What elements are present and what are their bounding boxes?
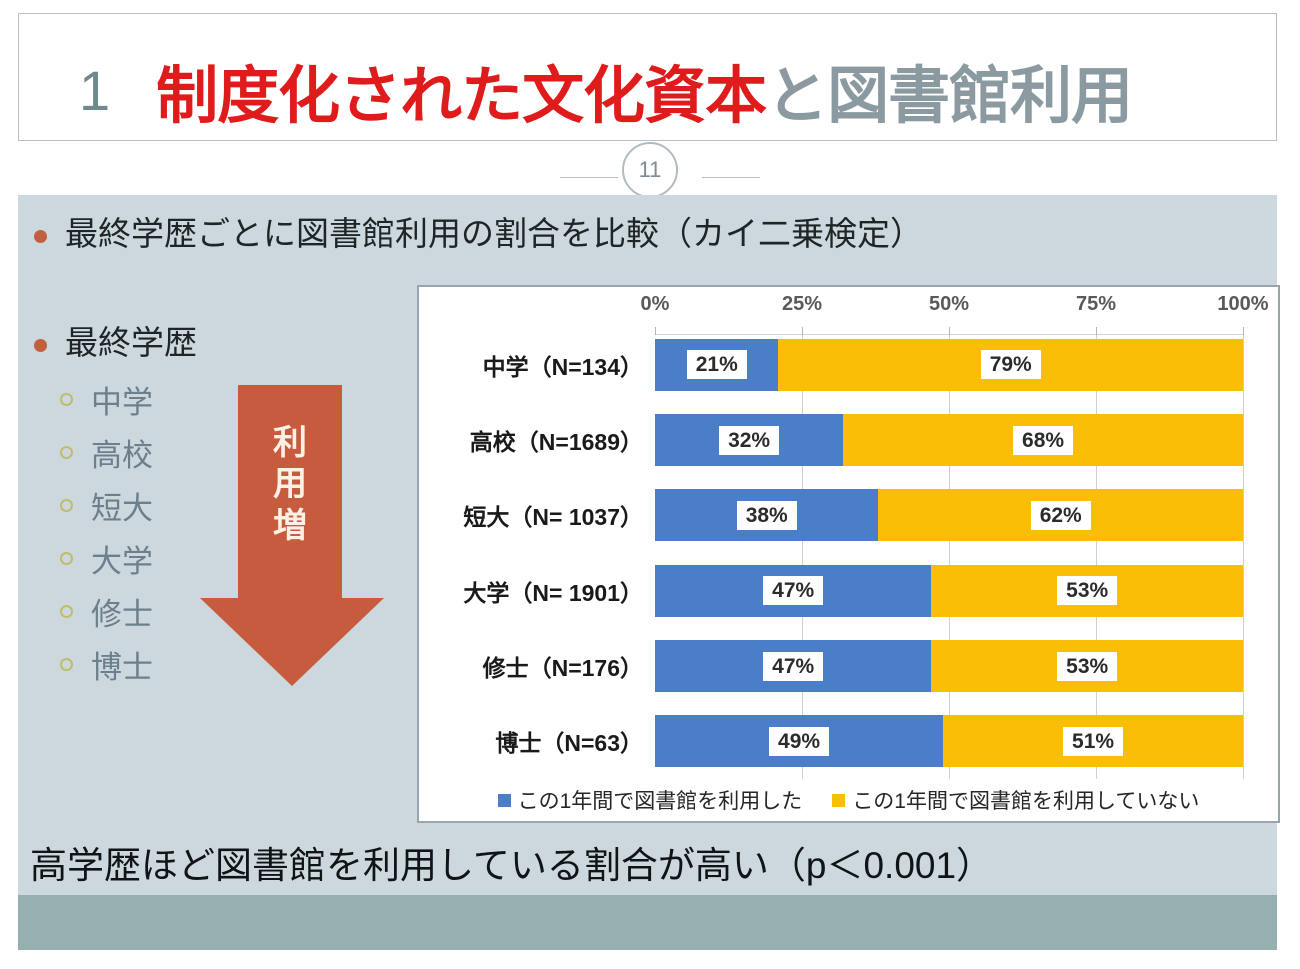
bar-segment: 38%: [655, 489, 878, 541]
plot-area: 21%79%32%68%38%62%47%53%47%53%49%51%: [655, 327, 1243, 779]
page-number-badge: 11: [622, 142, 678, 198]
header-band: 1 制度化された文化資本 と図書館利用: [18, 13, 1277, 141]
bar-row: 21%79%: [655, 339, 1243, 391]
bar-row: 49%51%: [655, 715, 1243, 767]
bar-value-label: 53%: [1057, 576, 1117, 605]
bar-value-label: 51%: [1063, 727, 1123, 756]
list-item-label: 博士: [91, 642, 153, 687]
x-axis-tick-label: 100%: [1217, 293, 1268, 316]
x-axis-tickmark: [655, 327, 656, 335]
arrow-label: 利 用 増: [238, 423, 342, 547]
list-item-label: 中学: [91, 377, 153, 422]
gridline: [1096, 327, 1097, 779]
bullet-compare: 最終学歴ごとに図書館利用の割合を比較（カイ二乗検定）: [34, 213, 923, 254]
bar-value-label: 49%: [769, 727, 829, 756]
circle-outline-icon: [60, 605, 73, 618]
conclusion-text: 高学歴ほど図書館を利用している割合が高い（p＜0.001）: [30, 835, 993, 889]
bullet-education-label: 最終学歴: [65, 322, 197, 363]
x-axis-tick-label: 75%: [1076, 293, 1116, 316]
bar-value-label: 21%: [687, 350, 747, 379]
bar-segment: 68%: [843, 414, 1243, 466]
category-axis-labels: 中学（N=134）高校（N=1689）短大（N= 1037）大学（N= 1901…: [419, 327, 655, 779]
category-label: 博士（N=63）: [495, 715, 643, 767]
bar-value-label: 38%: [737, 501, 797, 530]
category-label: 高校（N=1689）: [470, 414, 643, 466]
gridline: [1243, 327, 1244, 779]
chart-legend: この1年間で図書館を利用したこの1年間で図書館を利用していない: [419, 785, 1278, 815]
list-item-label: 大学: [91, 536, 153, 581]
x-axis-tick-label: 50%: [929, 293, 969, 316]
x-axis-tick-label: 25%: [782, 293, 822, 316]
list-item-label: 修士: [91, 589, 153, 634]
category-label: 短大（N= 1037）: [463, 489, 643, 541]
x-axis-tickmark: [1096, 327, 1097, 335]
down-arrow-icon: 利 用 増: [200, 385, 396, 685]
chart-inner: 0%25%50%75%100% 中学（N=134）高校（N=1689）短大（N=…: [419, 287, 1278, 821]
x-axis-tickmark: [949, 327, 950, 335]
legend-label: この1年間で図書館を利用した: [518, 785, 803, 815]
arrow-label-line-2: 用: [238, 464, 342, 505]
legend-label: この1年間で図書館を利用していない: [852, 785, 1199, 815]
category-label: 中学（N=134）: [483, 339, 643, 391]
title-highlight-text: 制度化された文化資本: [156, 45, 766, 135]
bar-segment: 32%: [655, 414, 843, 466]
legend-item: この1年間で図書館を利用した: [498, 785, 803, 815]
bar-row: 32%68%: [655, 414, 1243, 466]
bar-value-label: 68%: [1013, 426, 1073, 455]
x-axis-tickmark: [1243, 327, 1244, 335]
footer-band: [18, 895, 1277, 950]
bar-segment: 51%: [943, 715, 1243, 767]
bar-row: 38%62%: [655, 489, 1243, 541]
category-label: 修士（N=176）: [483, 640, 643, 692]
bullet-education: 最終学歴: [34, 322, 197, 363]
category-label: 大学（N= 1901）: [463, 565, 643, 617]
title-section-number: 1: [79, 58, 110, 123]
list-item-label: 高校: [91, 430, 153, 475]
divider-line-left: [560, 177, 618, 178]
bar-segment: 47%: [655, 565, 931, 617]
bar-value-label: 47%: [763, 652, 823, 681]
circle-outline-icon: [60, 499, 73, 512]
slide: 1 制度化された文化資本 と図書館利用 11 最終学歴ごとに図書館利用の割合を比…: [0, 0, 1300, 969]
arrow-head: [200, 598, 384, 686]
bar-row: 47%53%: [655, 565, 1243, 617]
gridline: [802, 327, 803, 779]
arrow-label-line-1: 利: [238, 423, 342, 464]
legend-item: この1年間で図書館を利用していない: [832, 785, 1199, 815]
legend-swatch-icon: [498, 794, 511, 807]
divider-line-right: [702, 177, 760, 178]
legend-swatch-icon: [832, 794, 845, 807]
bar-segment: 49%: [655, 715, 943, 767]
circle-outline-icon: [60, 393, 73, 406]
bar-segment: 79%: [778, 339, 1243, 391]
bar-value-label: 53%: [1057, 652, 1117, 681]
bar-segment: 53%: [931, 565, 1243, 617]
bar-value-label: 79%: [981, 350, 1041, 379]
arrow-label-line-3: 増: [238, 506, 342, 547]
bar-value-label: 47%: [763, 576, 823, 605]
bar-segment: 21%: [655, 339, 778, 391]
bar-segment: 62%: [878, 489, 1243, 541]
title-secondary-text: と図書館利用: [766, 45, 1132, 135]
x-axis-tickmark: [802, 327, 803, 335]
bullet-dot-icon: [34, 339, 47, 352]
gridline: [949, 327, 950, 779]
bar-segment: 53%: [931, 640, 1243, 692]
bar-value-label: 32%: [719, 426, 779, 455]
bullet-compare-label: 最終学歴ごとに図書館利用の割合を比較（カイ二乗検定）: [65, 213, 923, 254]
x-axis-tick-labels: 0%25%50%75%100%: [419, 293, 1278, 323]
bar-segment: 47%: [655, 640, 931, 692]
circle-outline-icon: [60, 446, 73, 459]
bar-row: 47%53%: [655, 640, 1243, 692]
circle-outline-icon: [60, 658, 73, 671]
bullet-dot-icon: [34, 230, 47, 243]
circle-outline-icon: [60, 552, 73, 565]
slide-title: 1 制度化された文化資本 と図書館利用: [79, 42, 1279, 138]
list-item-label: 短大: [91, 483, 153, 528]
stacked-bar-chart: 0%25%50%75%100% 中学（N=134）高校（N=1689）短大（N=…: [417, 285, 1280, 823]
bar-value-label: 62%: [1031, 501, 1091, 530]
x-axis-tick-label: 0%: [641, 293, 670, 316]
